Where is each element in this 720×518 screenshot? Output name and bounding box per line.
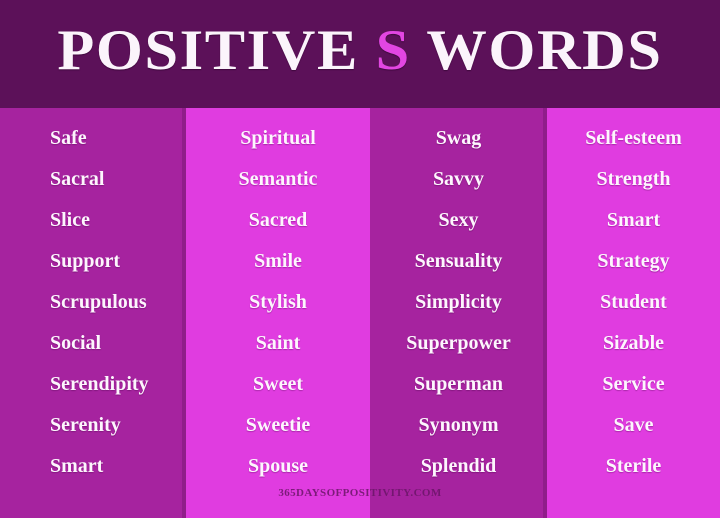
word-item: Save [547,405,720,446]
word-item: Self-esteem [547,118,720,159]
site-watermark: 365DAYSOFPOSITIVITY.COM [0,487,720,499]
word-list-3: Swag Savvy Sexy Sensuality Simplicity Su… [370,118,547,487]
word-item: Stylish [186,282,370,323]
word-item: Sacred [186,200,370,241]
word-item: Serenity [0,405,186,446]
word-item: Slice [0,200,186,241]
word-item: Savvy [370,159,547,200]
word-item: Spouse [186,446,370,487]
word-item: Smart [547,200,720,241]
word-list-2: Spiritual Semantic Sacred Smile Stylish … [186,118,370,487]
word-item: Swag [370,118,547,159]
word-item: Safe [0,118,186,159]
word-item: Support [0,241,186,282]
word-item: Strength [547,159,720,200]
word-item: Superpower [370,323,547,364]
word-column-2: Spiritual Semantic Sacred Smile Stylish … [186,108,370,518]
page-title: POSITIVE S WORDS [0,22,720,80]
title-prefix: POSITIVE [57,19,375,82]
title-highlight-letter: S [376,19,411,82]
word-list-1: Safe Sacral Slice Support Scrupulous Soc… [0,118,186,487]
word-item: Spiritual [186,118,370,159]
word-item: Serendipity [0,364,186,405]
word-item: Sizable [547,323,720,364]
word-item: Social [0,323,186,364]
positive-s-words-poster: POSITIVE S WORDS Safe Sacral Slice Suppo… [0,0,720,518]
word-item: Smile [186,241,370,282]
header-band: POSITIVE S WORDS [0,0,720,108]
title-suffix: WORDS [411,19,663,82]
word-item: Sacral [0,159,186,200]
word-item: Sterile [547,446,720,487]
word-column-4: Self-esteem Strength Smart Strategy Stud… [547,108,720,518]
word-item: Strategy [547,241,720,282]
word-item: Synonym [370,405,547,446]
word-item: Service [547,364,720,405]
word-item: Semantic [186,159,370,200]
word-item: Scrupulous [0,282,186,323]
word-item: Student [547,282,720,323]
word-item: Sweet [186,364,370,405]
word-item: Sexy [370,200,547,241]
word-item: Sweetie [186,405,370,446]
word-column-1: Safe Sacral Slice Support Scrupulous Soc… [0,108,186,518]
word-list-4: Self-esteem Strength Smart Strategy Stud… [547,118,720,487]
word-item: Splendid [370,446,547,487]
word-item: Smart [0,446,186,487]
word-item: Sensuality [370,241,547,282]
word-column-3: Swag Savvy Sexy Sensuality Simplicity Su… [370,108,547,518]
word-item: Simplicity [370,282,547,323]
word-item: Saint [186,323,370,364]
word-item: Superman [370,364,547,405]
